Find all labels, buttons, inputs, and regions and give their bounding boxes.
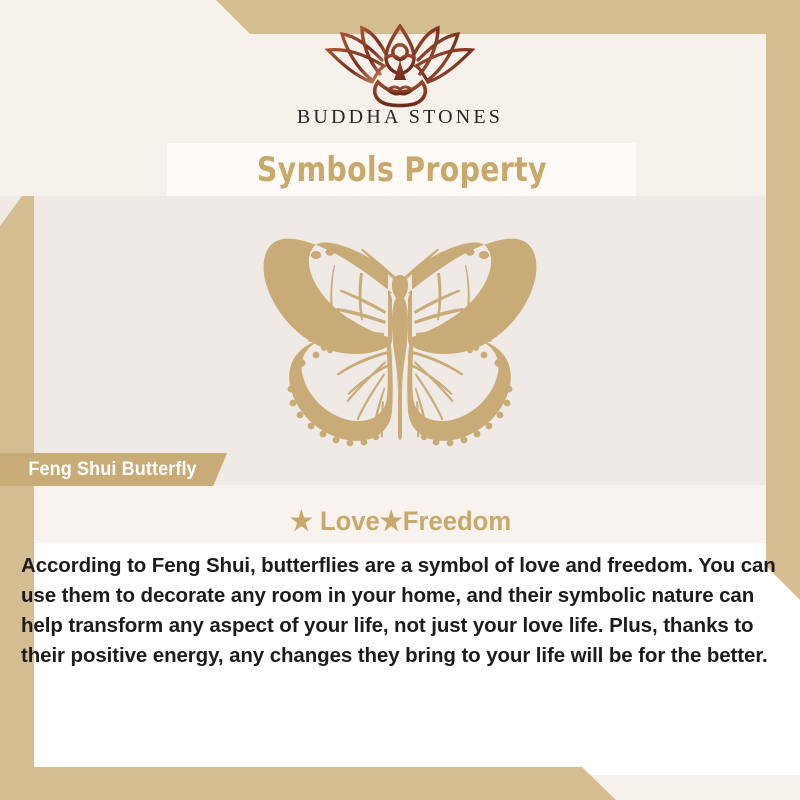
tag-label: Feng Shui Butterfly xyxy=(28,459,196,481)
butterfly-illustration xyxy=(0,200,800,485)
brand-name: BUDDHA STONES xyxy=(297,106,503,129)
section-heading-text: ★ Love★Freedom xyxy=(289,506,510,537)
lotus-meditation-figure-icon xyxy=(306,24,494,110)
section-body-text: According to Feng Shui, butterflies are … xyxy=(21,551,781,671)
section-heading: ★ Love★Freedom xyxy=(0,506,800,537)
brand-logo: BUDDHA STONES xyxy=(0,24,800,140)
page-title: Symbols Property xyxy=(257,150,547,190)
status-badge: Feng Shui Butterfly xyxy=(0,453,227,486)
butterfly-icon xyxy=(220,215,580,470)
title-banner: Symbols Property xyxy=(167,143,636,196)
poster-root: BUDDHA STONES Symbols Property xyxy=(0,0,800,800)
